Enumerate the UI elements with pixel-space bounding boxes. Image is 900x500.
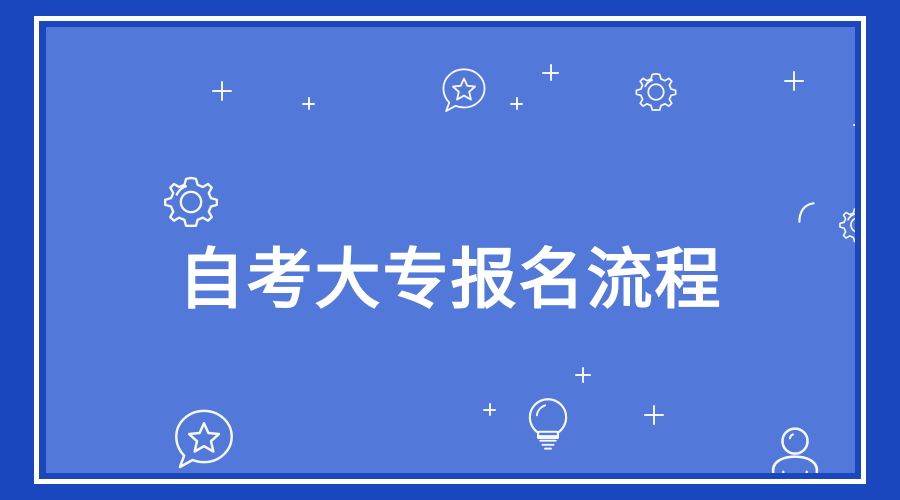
banner-image: 自考大专报名流程 (0, 0, 900, 500)
sparkle-plus-icon (212, 81, 232, 101)
sparkle-plus-icon (302, 97, 315, 110)
sparkle-plus-icon (644, 405, 664, 425)
sparkle-plus-icon (784, 71, 804, 91)
speech-bubble-star-icon (169, 405, 239, 473)
sparkle-plus-icon (542, 64, 559, 81)
speech-bubble-star-icon (438, 65, 490, 117)
sparkle-plus-icon (853, 118, 855, 132)
crescent-arc-icon (794, 199, 820, 225)
inner-panel: 自考大专报名流程 (46, 27, 855, 473)
gear-icon (158, 169, 224, 235)
gear-icon (631, 67, 681, 117)
sparkle-plus-icon (575, 367, 591, 383)
person-icon (763, 423, 827, 473)
sparkle-plus-icon (483, 403, 496, 416)
sparkle-plus-icon (510, 97, 523, 110)
lightbulb-icon (519, 395, 577, 453)
banner-title: 自考大专报名流程 (46, 233, 855, 325)
